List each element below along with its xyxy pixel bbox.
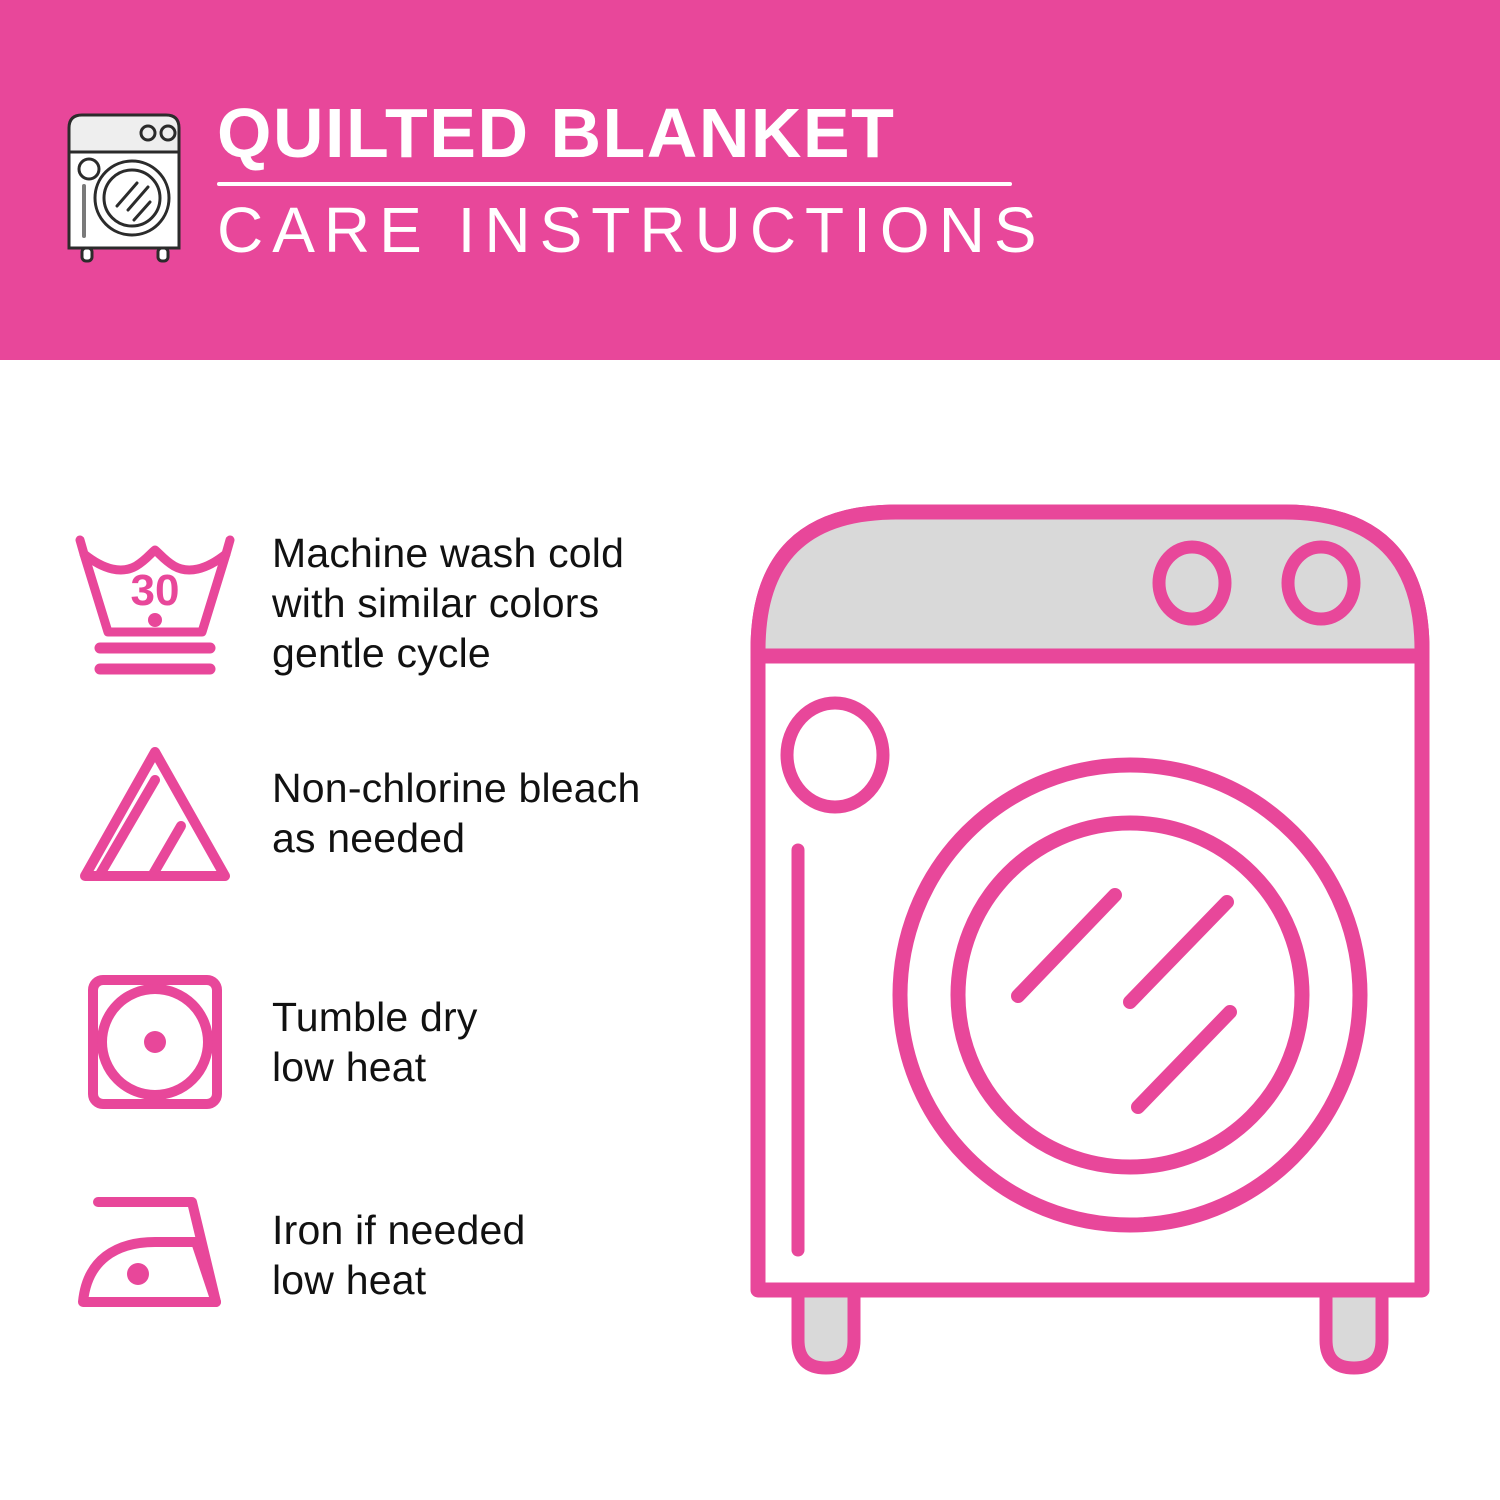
care-row: 30 Machine wash cold with similar colors… <box>70 518 710 688</box>
page-subtitle: CARE INSTRUCTIONS <box>217 198 1087 262</box>
title-divider <box>217 182 1012 186</box>
care-text: Iron if needed low heat <box>250 1205 526 1305</box>
care-text-line: Iron if needed <box>272 1205 526 1255</box>
care-text-line: Tumble dry <box>272 992 478 1042</box>
non-chlorine-bleach-icon <box>70 738 250 888</box>
washing-machine-icon <box>62 108 192 263</box>
wash-temperature-label: 30 <box>131 566 180 615</box>
header-banner: QUILTED BLANKET CARE INSTRUCTIONS <box>0 0 1500 360</box>
care-text: Machine wash cold with similar colors ge… <box>250 528 624 678</box>
care-text-line: gentle cycle <box>272 628 624 678</box>
care-text-line: low heat <box>272 1255 526 1305</box>
header-title-block: QUILTED BLANKET CARE INSTRUCTIONS <box>217 98 1087 262</box>
care-text-line: with similar colors <box>272 578 624 628</box>
care-text-line: Non-chlorine bleach <box>272 763 640 813</box>
care-text-line: low heat <box>272 1042 478 1092</box>
care-text: Tumble dry low heat <box>250 992 478 1092</box>
iron-low-heat-icon <box>70 1190 250 1320</box>
care-instruction-list: 30 Machine wash cold with similar colors… <box>70 500 710 1360</box>
care-row: Tumble dry low heat <box>70 962 710 1122</box>
care-row: Iron if needed low heat <box>70 1180 710 1330</box>
care-text: Non-chlorine bleach as needed <box>250 763 640 863</box>
machine-wash-30-gentle-icon: 30 <box>70 528 250 678</box>
header-content: QUILTED BLANKET CARE INSTRUCTIONS <box>62 98 1042 278</box>
washing-machine-illustration <box>740 490 1440 1430</box>
care-text-line: as needed <box>272 813 640 863</box>
care-text-line: Machine wash cold <box>272 528 624 578</box>
page-title: QUILTED BLANKET <box>217 98 1087 168</box>
care-row: Non-chlorine bleach as needed <box>70 728 710 898</box>
tumble-dry-low-icon <box>70 967 250 1117</box>
